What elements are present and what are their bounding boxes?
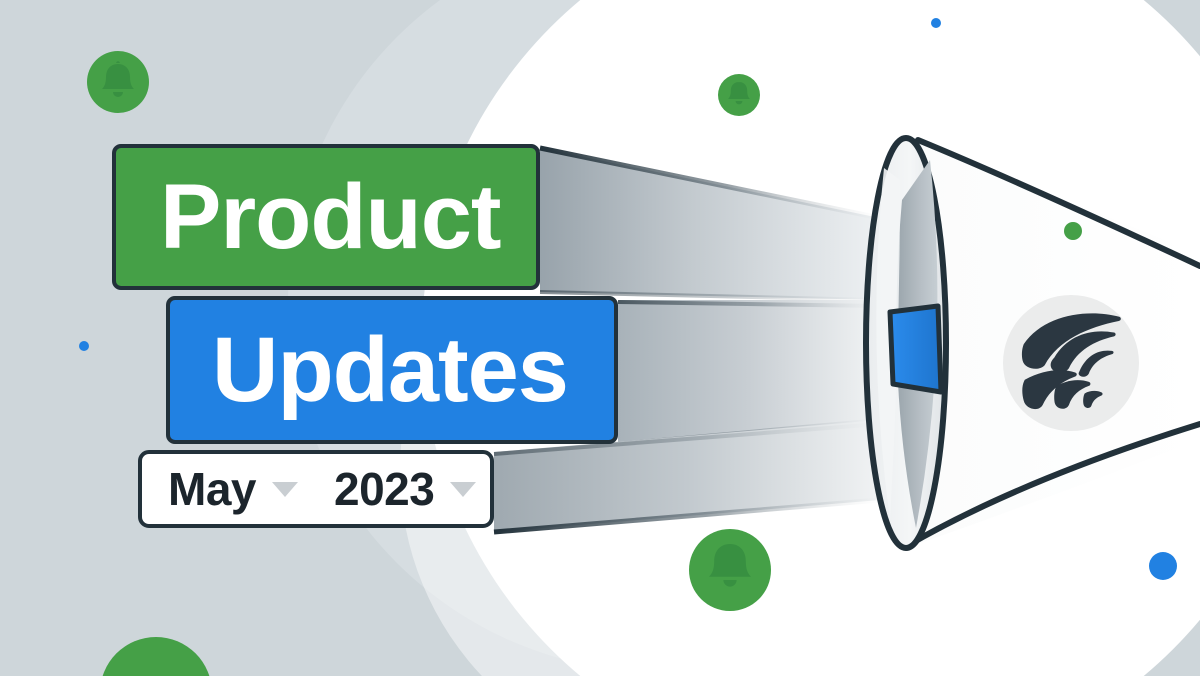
title-line-2: Updates	[212, 324, 568, 416]
dot-blue-left	[79, 341, 89, 351]
bell-bottom-center	[689, 529, 771, 611]
chevron-down-icon-month[interactable]	[272, 482, 298, 497]
year-select[interactable]: 2023	[334, 466, 476, 512]
chevron-down-icon-year[interactable]	[450, 482, 476, 497]
product-updates-banner: Product Updates May 2023	[0, 0, 1200, 676]
year-value: 2023	[334, 466, 434, 512]
plate-updates: Updates	[166, 296, 618, 444]
bell-top-center	[718, 74, 760, 116]
dot-blue-bottom-right	[1149, 552, 1177, 580]
month-select[interactable]: May	[168, 466, 298, 512]
megaphone-blue-patch	[890, 306, 941, 392]
plate-product: Product	[112, 144, 540, 290]
dot-blue-top	[931, 18, 941, 28]
month-value: May	[168, 466, 256, 512]
bell-top-left	[87, 51, 149, 113]
title-line-1: Product	[160, 171, 501, 263]
dot-green-on-horn	[1064, 222, 1082, 240]
plate-date-selectors: May 2023	[138, 450, 494, 528]
